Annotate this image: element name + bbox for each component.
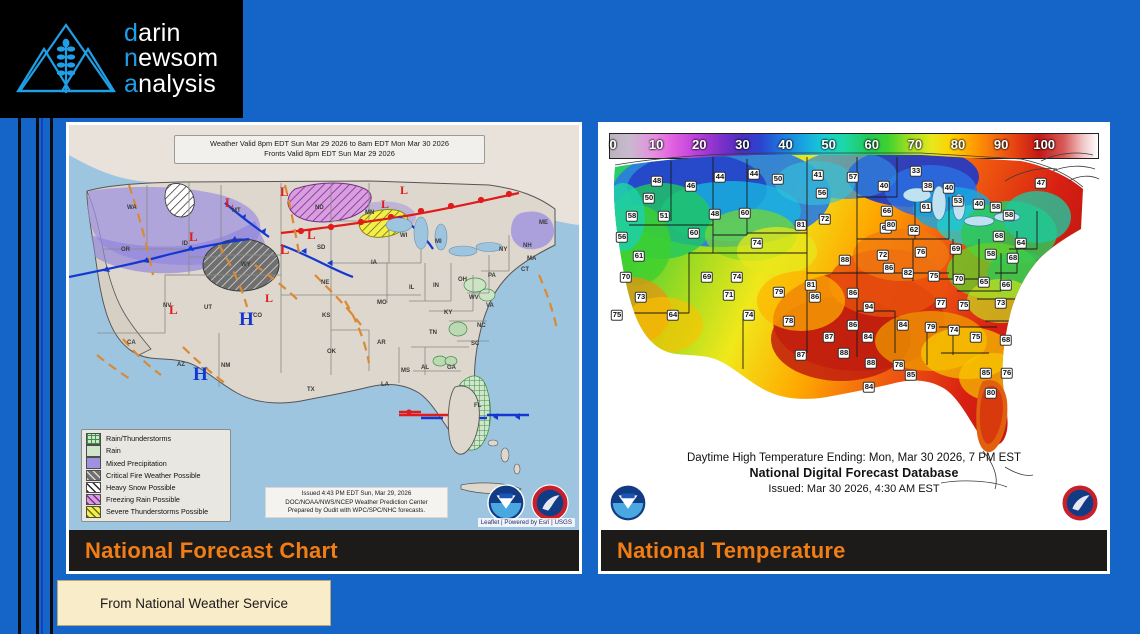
temperature-value-label: 61 (633, 251, 645, 262)
legend-label: Severe Thunderstorms Possible (106, 507, 208, 516)
accent-stripe-3 (50, 110, 53, 634)
temperature-value-label: 48 (709, 209, 721, 220)
legend-label: Heavy Snow Possible (106, 483, 176, 492)
temperature-value-label: 68 (1000, 335, 1012, 346)
temperature-value-label: 79 (925, 322, 937, 333)
temperature-value-label: 84 (862, 332, 874, 343)
high-pressure-marker: H (193, 365, 208, 384)
brand-line-1: darin (124, 21, 218, 47)
state-label: WA (127, 205, 137, 211)
temperature-value-label: 81 (795, 220, 807, 231)
temperature-value-label: 48 (651, 176, 663, 187)
low-pressure-marker: L (307, 228, 316, 241)
temperature-value-label: 74 (751, 238, 763, 249)
temperature-value-label: 68 (993, 231, 1005, 242)
state-label: KY (444, 310, 452, 316)
temperature-value-label: 51 (658, 211, 670, 222)
temperature-value-label: 46 (685, 181, 697, 192)
brand-line-2: newsom (124, 46, 218, 72)
state-label: NC (477, 323, 486, 329)
low-pressure-marker: L (400, 184, 408, 196)
state-label: CO (253, 313, 262, 319)
caption-product-name: National Digital Forecast Database (601, 465, 1107, 481)
temperature-value-label: 44 (714, 172, 726, 183)
state-label: ID (182, 241, 188, 247)
map-attribution[interactable]: Leaflet | Powered by Esri | USGS (478, 518, 575, 527)
temperature-value-label: 61 (920, 202, 932, 213)
credit-issued: Issued 4:43 PM EDT Sun, Mar 29, 2026 (269, 490, 444, 498)
forecast-credit: Issued 4:43 PM EDT Sun, Mar 29, 2026 DOC… (265, 487, 448, 518)
temperature-value-label: 72 (819, 214, 831, 225)
legend-row: Severe Thunderstorms Possible (86, 506, 226, 518)
temperature-value-label: 88 (838, 348, 850, 359)
accent-stripe-2 (36, 110, 39, 634)
temperature-value-label: 44 (748, 169, 760, 180)
state-label: FL (474, 403, 481, 409)
temperature-value-label: 82 (902, 268, 914, 279)
temperature-value-label: 78 (783, 316, 795, 327)
state-label: CA (127, 340, 136, 346)
legend-row: Rain (86, 445, 226, 457)
legend-row: Mixed Precipitation (86, 457, 226, 469)
temperature-value-label: 88 (865, 358, 877, 369)
state-label: VA (486, 303, 494, 309)
state-label: WI (400, 233, 407, 239)
state-label: MS (401, 368, 410, 374)
nws-seal-icon (531, 484, 569, 522)
brand-logo: darin newsom analysis (0, 0, 243, 118)
state-label: SD (317, 245, 325, 251)
temperature-value-label: 86 (847, 288, 859, 299)
state-label: MA (527, 256, 536, 262)
temperature-value-label: 79 (773, 287, 785, 298)
temperature-value-label: 70 (620, 272, 632, 283)
state-label: NY (499, 247, 507, 253)
legend-row: Heavy Snow Possible (86, 481, 226, 493)
temperature-map-viewport[interactable]: 0102030405060708090100 (601, 125, 1107, 530)
temperature-value-label: 68 (1007, 253, 1019, 264)
state-label: MN (365, 210, 374, 216)
panel-national-temperature[interactable]: 0102030405060708090100 (598, 122, 1110, 574)
forecast-map-viewport[interactable]: LLLLLLLLLHH WAORIDMTNDSDNEWYCOUTNVCAAZNM… (69, 125, 579, 530)
high-pressure-marker: H (239, 310, 254, 329)
temperature-value-label: 80 (985, 388, 997, 399)
state-label: OR (121, 247, 130, 253)
low-pressure-marker: L (280, 244, 289, 258)
brand-line-3: analysis (124, 72, 218, 98)
state-label: AR (377, 340, 386, 346)
temperature-value-label: 74 (743, 310, 755, 321)
noaa-seal-icon (609, 484, 647, 522)
temperature-value-label: 62 (908, 225, 920, 236)
legend-row: Critical Fire Weather Possible (86, 469, 226, 481)
temperature-value-label: 60 (739, 208, 751, 219)
temperature-value-label: 58 (985, 249, 997, 260)
temperature-value-label: 85 (905, 370, 917, 381)
temperature-caption: Daytime High Temperature Ending: Mon, Ma… (601, 451, 1107, 496)
low-pressure-marker: L (265, 292, 273, 304)
caption-issued: Issued: Mar 30 2026, 4:30 AM EST (601, 482, 1107, 496)
state-label: ME (539, 220, 548, 226)
state-label: GA (447, 365, 456, 371)
temperature-value-label: 77 (935, 298, 947, 309)
legend-label: Critical Fire Weather Possible (106, 471, 201, 480)
forecast-legend: Rain/ThunderstormsRainMixed Precipitatio… (81, 429, 231, 522)
nws-seal-icon (1061, 484, 1099, 522)
source-caption-box: From National Weather Service (57, 580, 331, 626)
temperature-value-label: 74 (731, 272, 743, 283)
right-panel-title: National Temperature (617, 538, 846, 564)
temperature-value-label: 73 (635, 292, 647, 303)
temperature-value-label: 76 (1001, 368, 1013, 379)
temperature-value-label: 75 (928, 271, 940, 282)
temperature-value-label: 58 (1003, 210, 1015, 221)
state-label: WV (469, 295, 479, 301)
temperature-value-label: 86 (883, 263, 895, 274)
temperature-value-label: 85 (980, 368, 992, 379)
temperature-value-label: 40 (973, 199, 985, 210)
low-pressure-marker: L (189, 230, 198, 243)
credit-prepared-by: Prepared by Oudit with WPC/SPC/NHC forec… (269, 507, 444, 515)
low-pressure-marker: L (280, 185, 289, 198)
freezing-rain-swatch (86, 494, 101, 506)
temperature-value-label: 78 (893, 360, 905, 371)
state-label: IA (371, 260, 377, 266)
state-label: OH (458, 277, 467, 283)
validity-line-1: Weather Valid 8pm EDT Sun Mar 29 2026 to… (177, 139, 482, 149)
temperature-value-label: 58 (626, 211, 638, 222)
right-panel-title-bar: National Temperature (601, 530, 1107, 571)
temperature-value-label: 70 (953, 274, 965, 285)
state-label: AZ (177, 362, 185, 368)
state-label: TX (307, 387, 315, 393)
temperature-value-label: 75 (970, 332, 982, 343)
forecast-map[interactable]: LLLLLLLLLHH WAORIDMTNDSDNEWYCOUTNVCAAZNM… (69, 125, 579, 530)
legend-label: Rain/Thunderstorms (106, 434, 171, 443)
legend-label: Freezing Rain Possible (106, 495, 180, 504)
state-label: LA (381, 382, 389, 388)
accent-stripe-1 (18, 110, 21, 634)
legend-row: Freezing Rain Possible (86, 494, 226, 506)
state-label: TN (429, 330, 437, 336)
temperature-value-label: 87 (795, 350, 807, 361)
temperature-value-label: 75 (611, 310, 623, 321)
state-label: MI (435, 239, 442, 245)
state-label: PA (488, 273, 496, 279)
temperature-value-label: 88 (839, 255, 851, 266)
temperature-value-label: 65 (978, 277, 990, 288)
heavy-snow-swatch (86, 482, 101, 494)
state-label: WY (241, 262, 251, 268)
state-label: KS (322, 313, 330, 319)
temperature-value-label: 72 (877, 250, 889, 261)
rain-thunderstorms-swatch (86, 433, 101, 445)
rain-swatch (86, 445, 101, 457)
temperature-value-label: 69 (950, 244, 962, 255)
temperature-value-label: 64 (667, 310, 679, 321)
forecast-validity-header: Weather Valid 8pm EDT Sun Mar 29 2026 to… (174, 135, 485, 164)
state-label: UT (204, 305, 212, 311)
state-label: CT (521, 267, 529, 273)
temperature-value-label: 53 (952, 196, 964, 207)
temperature-value-label: 80 (885, 220, 897, 231)
temperature-value-label: 94 (863, 302, 875, 313)
temperature-value-label: 64 (1015, 238, 1027, 249)
left-panel-title-bar: National Forecast Chart (69, 530, 579, 571)
state-label: NH (523, 243, 532, 249)
temperature-value-label: 50 (643, 193, 655, 204)
state-label: NV (163, 303, 171, 309)
temperature-value-label: 75 (958, 300, 970, 311)
state-label: IL (409, 285, 414, 291)
panel-national-forecast-chart[interactable]: LLLLLLLLLHH WAORIDMTNDSDNEWYCOUTNVCAAZNM… (66, 122, 582, 574)
legend-label: Mixed Precipitation (106, 459, 167, 468)
temperature-value-label: 40 (943, 183, 955, 194)
critical-fire-swatch (86, 470, 101, 482)
low-pressure-marker: L (381, 198, 389, 210)
mountain-wheat-logo-icon (14, 19, 118, 99)
temperature-value-label: 86 (847, 320, 859, 331)
caption-valid-time: Daytime High Temperature Ending: Mon, Ma… (601, 451, 1107, 466)
temperature-value-label: 69 (701, 272, 713, 283)
state-label: NE (321, 280, 329, 286)
state-label: OK (327, 349, 336, 355)
legend-row: Rain/Thunderstorms (86, 433, 226, 445)
temperature-value-label: 84 (897, 320, 909, 331)
temperature-value-label: 84 (863, 382, 875, 393)
slide-canvas: darin newsom analysis (0, 0, 1140, 634)
temperature-map[interactable]: 0102030405060708090100 (601, 125, 1107, 530)
temperature-value-label: 58 (990, 202, 1002, 213)
temperature-value-label: 81 (805, 280, 817, 291)
noaa-seal-icon (487, 484, 525, 522)
temperature-value-label: 57 (847, 172, 859, 183)
temperature-value-label: 87 (823, 332, 835, 343)
temperature-value-label: 71 (723, 290, 735, 301)
temperature-value-label: 73 (995, 298, 1007, 309)
temperature-value-label: 50 (772, 174, 784, 185)
temperature-value-label: 40 (878, 181, 890, 192)
temperature-value-label: 60 (688, 228, 700, 239)
temperature-value-label: 66 (881, 206, 893, 217)
credit-agency: DOC/NOAA/NWS/NCEP Weather Prediction Cen… (269, 499, 444, 507)
accent-stripe-thin (41, 110, 43, 634)
temperature-value-label: 86 (809, 292, 821, 303)
temperature-value-label: 33 (910, 166, 922, 177)
legend-label: Rain (106, 446, 121, 455)
state-label: MO (377, 300, 387, 306)
state-label: AL (421, 365, 429, 371)
source-caption-text: From National Weather Service (100, 596, 288, 611)
state-label: SC (471, 341, 479, 347)
temperature-value-label: 38 (922, 181, 934, 192)
temperature-value-label: 66 (1000, 280, 1012, 291)
temperature-value-label: 41 (812, 170, 824, 181)
temperature-value-label: 56 (816, 188, 828, 199)
severe-thunderstorms-swatch (86, 506, 101, 518)
state-label: ND (315, 205, 324, 211)
temperature-value-label: 76 (915, 247, 927, 258)
temperature-value-label: 47 (1035, 178, 1047, 189)
temperature-value-label: 56 (616, 232, 628, 243)
left-panel-title: National Forecast Chart (85, 538, 338, 564)
state-label: NM (221, 363, 230, 369)
state-label: MT (232, 208, 241, 214)
state-label: IN (433, 283, 439, 289)
validity-line-2: Fronts Valid 8pm EDT Sun Mar 29 2026 (177, 149, 482, 159)
temperature-value-label: 74 (948, 325, 960, 336)
mixed-precipitation-swatch (86, 457, 101, 469)
